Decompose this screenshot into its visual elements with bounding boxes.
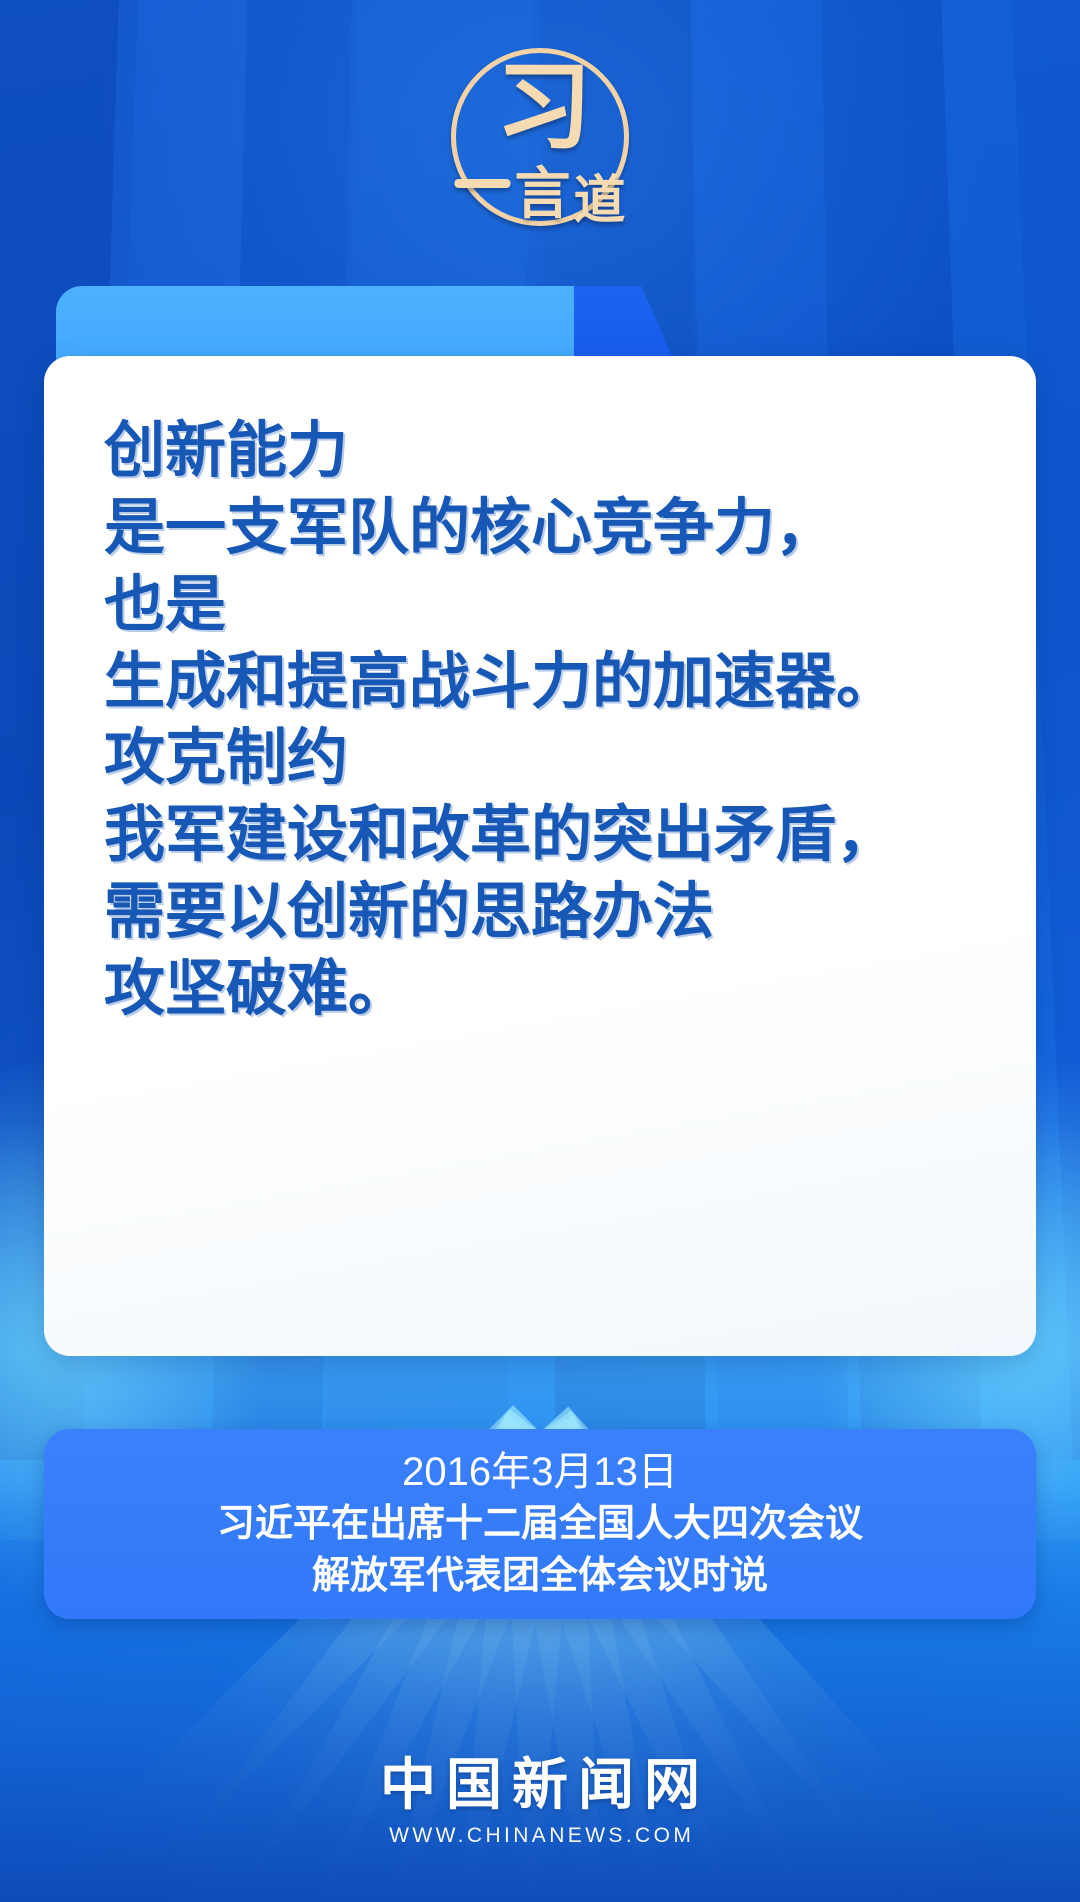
quote-line: 需要以创新的思路办法	[104, 873, 976, 950]
quote-line: 攻坚破难。	[104, 950, 976, 1027]
emblem-char-xi: 习	[496, 60, 592, 156]
brand-url: WWW.CHINANEWS.COM	[386, 1824, 695, 1848]
header-emblem-area: 习 言 道	[0, 44, 1080, 230]
quote-line: 创新能力	[104, 412, 976, 489]
attribution-line-2: 习近平在出席十二届全国人大四次会议	[217, 1500, 863, 1549]
quote-line: 也是	[104, 566, 976, 643]
emblem-char-yan: 言	[514, 170, 570, 222]
attribution-box: 2016年3月13日 习近平在出席十二届全国人大四次会议 解放军代表团全体会议时…	[44, 1429, 1036, 1619]
emblem-bottom-chars: 言 道	[454, 170, 625, 222]
poster-root: 习 言 道 创新能力 是一支军队的核心竞争力， 也是 生成和提高战斗力的加速器。…	[0, 0, 1080, 1902]
quote-line: 我军建设和改革的突出矛盾，	[104, 796, 976, 873]
brand-footer: 中国新闻网 WWW.CHINANEWS.COM	[0, 1758, 1080, 1848]
attribution-line-3: 解放军代表团全体会议时说	[312, 1552, 768, 1601]
brand-name-cn: 中国新闻网	[370, 1758, 710, 1814]
quote-line: 攻克制约	[104, 719, 976, 796]
quote-line: 生成和提高战斗力的加速器。	[104, 643, 976, 720]
xi-yan-dao-emblem-icon: 习 言 道	[447, 44, 633, 230]
emblem-dash	[454, 179, 510, 188]
quote-card: 创新能力 是一支军队的核心竞争力， 也是 生成和提高战斗力的加速器。 攻克制约 …	[44, 356, 1036, 1356]
quote-line: 是一支军队的核心竞争力，	[104, 489, 976, 566]
attribution-date: 2016年3月13日	[402, 1447, 678, 1498]
emblem-char-dao: 道	[573, 178, 625, 226]
